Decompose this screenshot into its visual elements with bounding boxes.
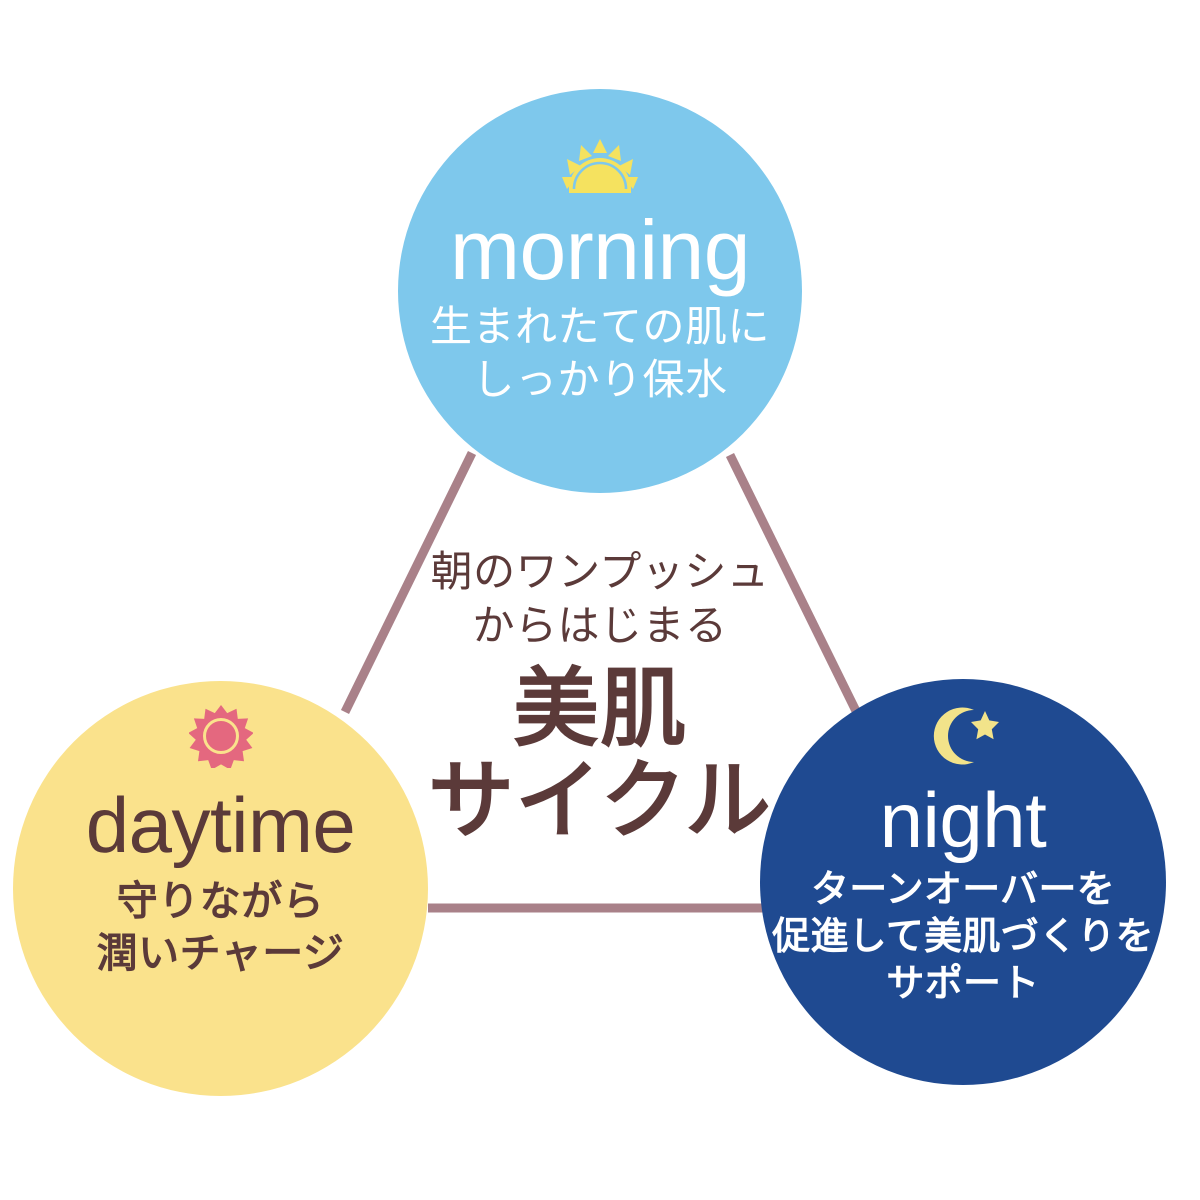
node-morning[interactable]: morning 生まれたての肌に しっかり保水	[398, 89, 802, 493]
node-daytime-desc-line-1: 守りながら	[117, 878, 325, 924]
center-headline-line-1: 美肌	[390, 663, 810, 755]
node-daytime-description: 守りながら 潤いチャージ	[97, 876, 345, 979]
node-daytime-desc-line-2: 潤いチャージ	[97, 930, 345, 976]
node-morning-title: morning	[450, 209, 750, 291]
center-lead-text: 朝のワンプッシュ からはじまる	[390, 545, 810, 653]
center-lead-line-2: からはじまる	[390, 599, 810, 653]
node-night-desc-line-2: 促進して美肌づくりを	[772, 916, 1154, 958]
node-night[interactable]: night ターンオーバーを 促進して美肌づくりを サポート	[760, 679, 1166, 1085]
center-headline-line-2: サイクル	[390, 755, 810, 847]
center-lead-line-1: 朝のワンプッシュ	[390, 545, 810, 599]
center-headline: 美肌 サイクル	[390, 663, 810, 847]
crescent-moon-star-icon	[927, 705, 999, 767]
rising-sun-icon	[561, 139, 639, 199]
node-daytime-title: daytime	[86, 786, 356, 864]
infographic-canvas: morning 生まれたての肌に しっかり保水 daytime 守りながら 潤い…	[0, 0, 1200, 1200]
node-morning-description: 生まれたての肌に しっかり保水	[430, 301, 770, 407]
node-morning-desc-line-1: 生まれたての肌に	[430, 303, 770, 350]
node-night-title: night	[880, 781, 1047, 859]
node-night-desc-line-1: ターンオーバーを	[811, 869, 1115, 911]
center-message: 朝のワンプッシュ からはじまる 美肌 サイクル	[390, 545, 810, 847]
node-night-description: ターンオーバーを 促進して美肌づくりを サポート	[772, 867, 1154, 1008]
node-daytime[interactable]: daytime 守りながら 潤いチャージ	[13, 681, 428, 1096]
node-morning-desc-line-2: しっかり保水	[472, 356, 727, 403]
sunburst-icon	[189, 704, 253, 768]
node-night-desc-line-3: サポート	[886, 963, 1039, 1005]
